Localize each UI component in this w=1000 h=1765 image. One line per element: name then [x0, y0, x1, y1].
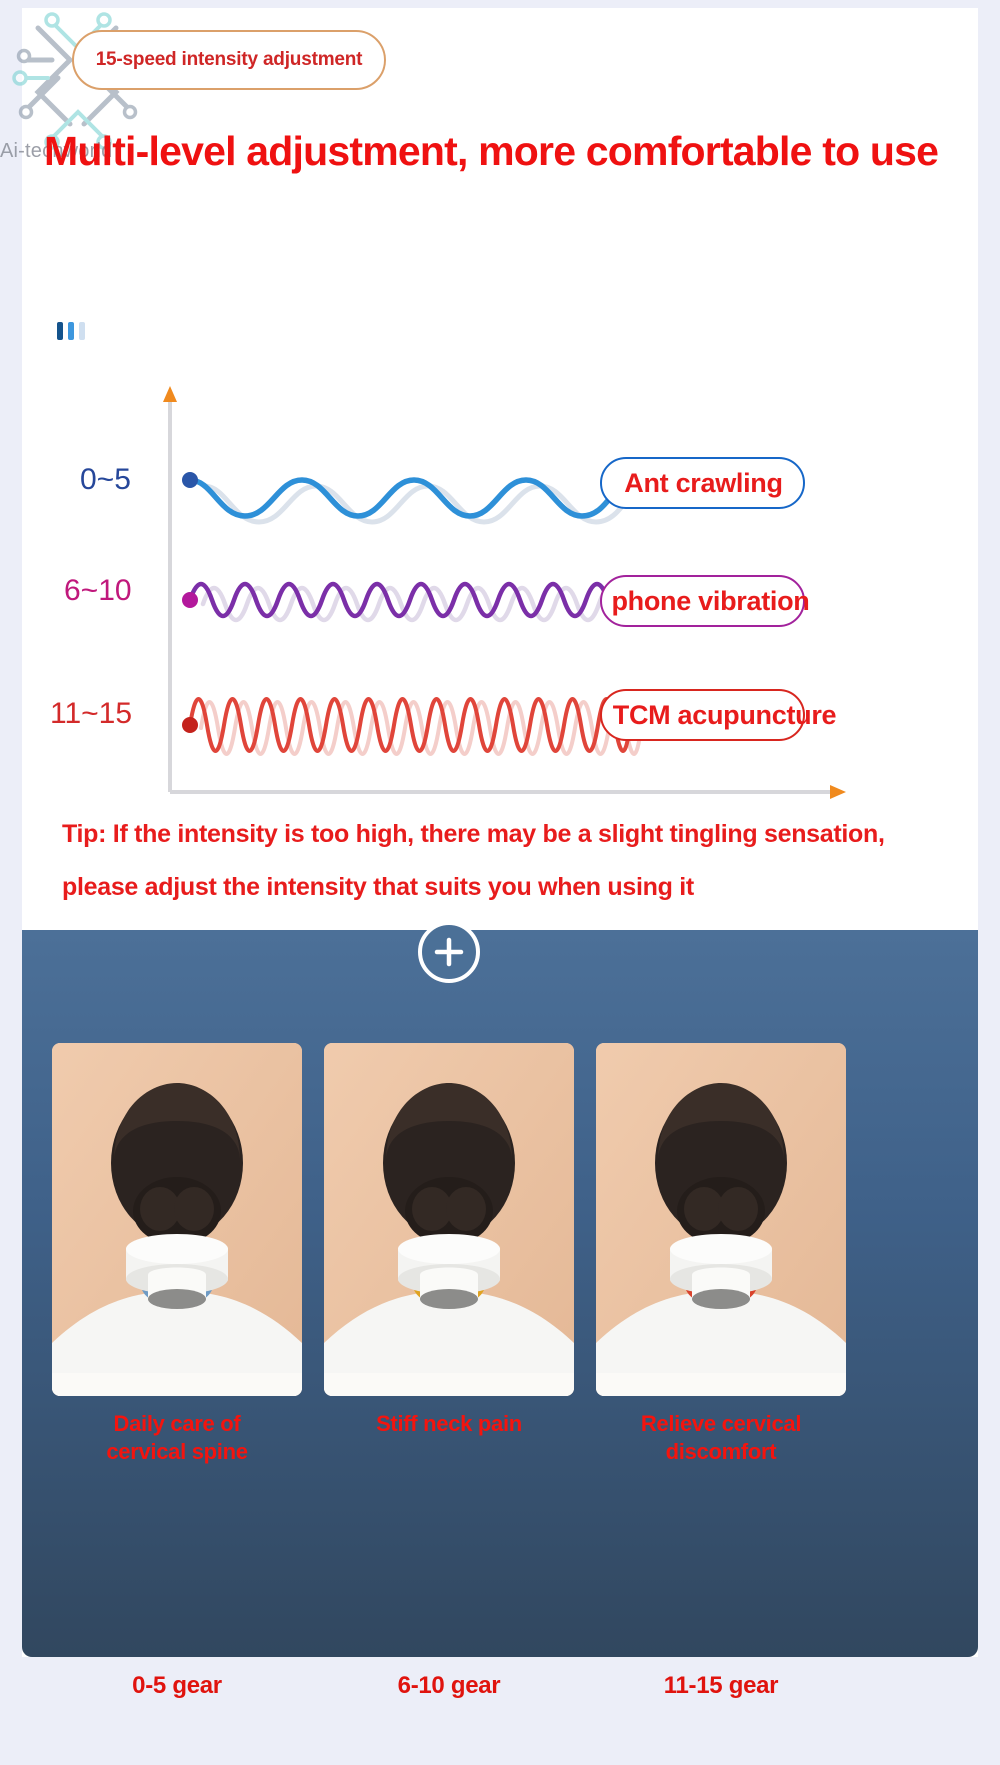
wave-series-ant-crawling — [182, 472, 642, 522]
expand-button[interactable] — [418, 921, 480, 983]
scenario-caption: Relieve cervicaldiscomfort — [596, 1410, 846, 1466]
mode-callout-ant-crawling: Ant crawling — [600, 457, 805, 509]
mode-callout-phone-vibration: phone vibration — [600, 575, 805, 627]
gear-label-row: 0-5 gear 6-10 gear 11-15 gear — [52, 1672, 948, 1700]
mode-callout-label: Ant crawling — [624, 468, 782, 499]
gear-label: 0-5 gear — [52, 1672, 302, 1700]
tip-line-1: Tip: If the intensity is too high, there… — [62, 820, 885, 849]
wave-series-phone-vibration — [182, 584, 641, 620]
intensity-badge: 15-speed intensity adjustment — [72, 30, 386, 90]
scenario-caption: Stiff neck pain — [324, 1410, 574, 1438]
scenario-card: Daily care ofcervical spine — [52, 1043, 302, 1466]
mode-callout-label: TCM acupuncture — [613, 700, 837, 731]
page-edge-right — [978, 0, 1000, 1765]
mode-callout-tcm-acupuncture: TCM acupuncture — [600, 689, 805, 741]
page-edge-top — [0, 0, 1000, 8]
scenario-card: Stiff neck pain — [324, 1043, 574, 1466]
wave-series-tcm-acupuncture — [182, 699, 641, 754]
scenario-caption: Daily care ofcervical spine — [52, 1410, 302, 1466]
product-detail-page: Ai-techworld 15-speed intensity adjustme… — [0, 0, 1000, 1765]
intensity-badge-label: 15-speed intensity adjustment — [96, 49, 363, 71]
plus-icon — [432, 935, 466, 969]
chart-level-label-0: 0~5 — [80, 463, 131, 497]
scenario-card: Relieve cervicaldiscomfort — [596, 1043, 846, 1466]
chart-level-label-2: 11~15 — [50, 697, 132, 731]
scenario-card-list: Daily care ofcervical spine — [52, 1043, 948, 1466]
scenario-photo-1 — [324, 1043, 574, 1396]
scenario-photo-2 — [596, 1043, 846, 1396]
tip-line-2: please adjust the intensity that suits y… — [62, 873, 694, 902]
scenario-photo-0 — [52, 1043, 302, 1396]
chart-level-label-1: 6~10 — [64, 574, 132, 608]
gear-label: 11-15 gear — [596, 1672, 846, 1700]
signal-bars-icon — [57, 322, 85, 340]
mode-callout-label: phone vibration — [611, 586, 809, 617]
page-edge-left — [0, 0, 22, 1765]
page-title: Multi-level adjustment, more comfortable… — [44, 128, 964, 175]
gear-label: 6-10 gear — [324, 1672, 574, 1700]
